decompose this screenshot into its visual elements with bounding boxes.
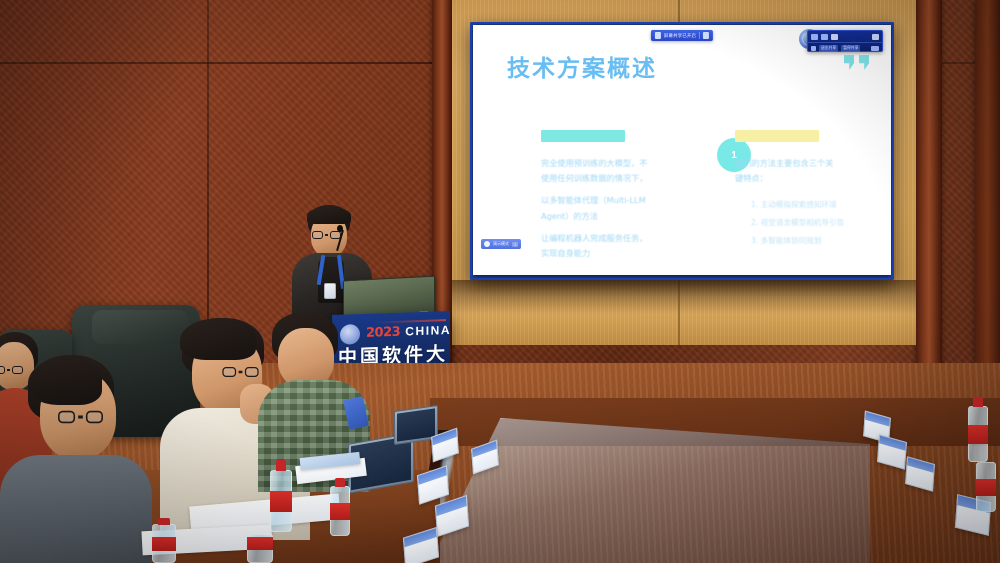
right-item-3: 3. 多智能体协同规划 bbox=[751, 232, 891, 250]
water-bottle-4-label bbox=[330, 503, 350, 520]
conference-room-scene: 屏幕共享已开启 退出共享 暂停共享 bbox=[0, 0, 1000, 563]
water-bottle-5-cap bbox=[973, 397, 983, 407]
maximize-icon[interactable] bbox=[821, 34, 828, 40]
quote-mark-decoration bbox=[844, 55, 869, 70]
attendee-2-glasses bbox=[222, 367, 258, 377]
right-column-tag bbox=[735, 130, 819, 142]
attendee-1-bridge bbox=[78, 416, 83, 418]
attendee-2-bridge bbox=[239, 371, 243, 373]
podium-brand-en: CHINASOFT bbox=[405, 322, 450, 339]
right-line-2: 键特点： bbox=[735, 171, 891, 186]
right-item-1: 1. 主动模拟探索感知环境 bbox=[751, 196, 891, 214]
left-paragraph-block-2: 以多智能体代理（Multi-LLM Agent）的方法 bbox=[541, 193, 716, 223]
window-controls-row bbox=[808, 31, 882, 42]
screen-share-toolbar[interactable]: 屏幕共享已开启 bbox=[651, 30, 713, 41]
podium-year: 2023 bbox=[366, 325, 400, 341]
presentation-mode-badge[interactable]: 演示模式 1 bbox=[481, 239, 521, 249]
water-bottle-5-label bbox=[968, 425, 988, 444]
attendee-2-lens-left bbox=[222, 367, 236, 377]
right-numbered-list: 1. 主动模拟探索感知环境 2. 视觉语言模型相机导引答 3. 多智能体协同规划 bbox=[735, 196, 891, 250]
attendee-2-hair-front bbox=[180, 318, 256, 360]
slide-column-left: 完全使用预训练的大模型，不 使用任何训练数据的情况下， 以多智能体代理（Mult… bbox=[541, 130, 716, 268]
left-line-5: 让编程机器人完成服务任务， bbox=[541, 231, 716, 246]
left-line-1: 完全使用预训练的大模型，不 bbox=[541, 156, 716, 171]
left-line-6: 实现自身能力 bbox=[541, 246, 716, 261]
slide-title: 技术方案概述 bbox=[507, 49, 657, 83]
right-item-2: 2. 视觉语言模型相机导引答 bbox=[751, 214, 891, 232]
attendee-1-lens-left bbox=[58, 411, 75, 423]
wall-seam-vertical-left bbox=[207, 0, 209, 330]
left-line-3: 以多智能体代理（Multi-LLM bbox=[541, 193, 716, 208]
water-bottle-1-cap bbox=[276, 460, 287, 471]
water-bottle-6 bbox=[976, 462, 996, 512]
attendee-3-head bbox=[278, 328, 334, 388]
attendee-1-hair-front bbox=[28, 357, 102, 405]
toolbar-settings-icon[interactable] bbox=[703, 32, 709, 39]
left-paragraph-block-3: 让编程机器人完成服务任务， 实现自身能力 bbox=[541, 231, 716, 261]
water-bottle-2-label bbox=[152, 537, 176, 550]
tan-panel-lower-seam bbox=[678, 280, 680, 345]
close-icon[interactable] bbox=[831, 34, 838, 40]
attendee-2-lens-right bbox=[245, 367, 259, 377]
tan-panel-lower bbox=[452, 280, 916, 345]
microphone-head bbox=[337, 225, 343, 232]
window-menu-icon[interactable] bbox=[872, 34, 879, 40]
water-bottle-1-label bbox=[270, 491, 292, 512]
attendee-0-lens-left bbox=[0, 366, 5, 374]
attendee-0-bridge bbox=[7, 369, 10, 370]
left-line-2: 使用任何训练数据的情况下， bbox=[541, 171, 716, 186]
left-paragraph-block-1: 完全使用预训练的大模型，不 使用任何训练数据的情况下， bbox=[541, 156, 716, 186]
table-laptop-2-screen bbox=[397, 408, 435, 441]
attendee-1 bbox=[18, 355, 146, 563]
pause-share-chip[interactable]: 暂停共享 bbox=[841, 45, 860, 52]
attendee-1-glasses bbox=[58, 411, 103, 423]
left-column-tag bbox=[541, 130, 625, 142]
mic-icon[interactable] bbox=[811, 46, 816, 51]
quote-glyph-right bbox=[859, 55, 869, 70]
screen-share-label: 屏幕共享已开启 bbox=[664, 33, 696, 39]
water-bottle-2 bbox=[152, 524, 176, 563]
presentation-mode-label: 演示模式 bbox=[493, 241, 509, 247]
glasses-bridge bbox=[325, 234, 328, 235]
presenter-glasses bbox=[312, 231, 341, 239]
water-bottle-4 bbox=[330, 486, 350, 536]
presenter-hair-front bbox=[307, 207, 351, 224]
water-bottle-6-label bbox=[976, 479, 996, 496]
window-actions-row: 退出共享 暂停共享 bbox=[808, 42, 882, 53]
stop-share-chip[interactable]: 退出共享 bbox=[819, 45, 838, 52]
water-bottle-2-cap bbox=[158, 518, 170, 525]
toolbar-separator bbox=[699, 32, 700, 39]
volume-icon[interactable] bbox=[871, 46, 879, 51]
glasses-lens-left bbox=[312, 231, 323, 239]
attendee-1-lens-right bbox=[86, 411, 103, 423]
water-bottle-1 bbox=[270, 470, 292, 532]
presentation-mode-icon bbox=[484, 241, 490, 247]
minimize-icon[interactable] bbox=[811, 34, 818, 40]
screen-share-icon bbox=[655, 32, 661, 39]
slide-column-right: 我们的方法主要包含三个关 键特点： 1. 主动模拟探索感知环境 2. 视觉语言模… bbox=[735, 130, 891, 250]
wall-display[interactable]: 屏幕共享已开启 退出共享 暂停共享 bbox=[470, 22, 894, 280]
right-paragraph-block: 我们的方法主要包含三个关 键特点： bbox=[735, 156, 891, 186]
left-line-4: Agent）的方法 bbox=[541, 209, 716, 224]
water-bottle-3 bbox=[247, 534, 273, 563]
podium-brand-line: 2023 CHINASOFT bbox=[366, 322, 450, 341]
attendee-1-body bbox=[0, 455, 152, 563]
water-bottle-5 bbox=[968, 406, 988, 462]
right-line-1: 我们的方法主要包含三个关 bbox=[735, 156, 891, 171]
water-bottle-3-label bbox=[247, 537, 273, 549]
screen-share-window-overlay[interactable]: 退出共享 暂停共享 bbox=[807, 30, 883, 52]
presenter-badge bbox=[324, 283, 336, 299]
water-bottle-4-cap bbox=[335, 478, 345, 487]
presentation-slide: 屏幕共享已开启 退出共享 暂停共享 bbox=[473, 25, 891, 275]
slide-number-chip: 1 bbox=[512, 242, 518, 247]
quote-glyph-left bbox=[844, 55, 854, 70]
panel-shadow-gradient bbox=[452, 280, 916, 314]
